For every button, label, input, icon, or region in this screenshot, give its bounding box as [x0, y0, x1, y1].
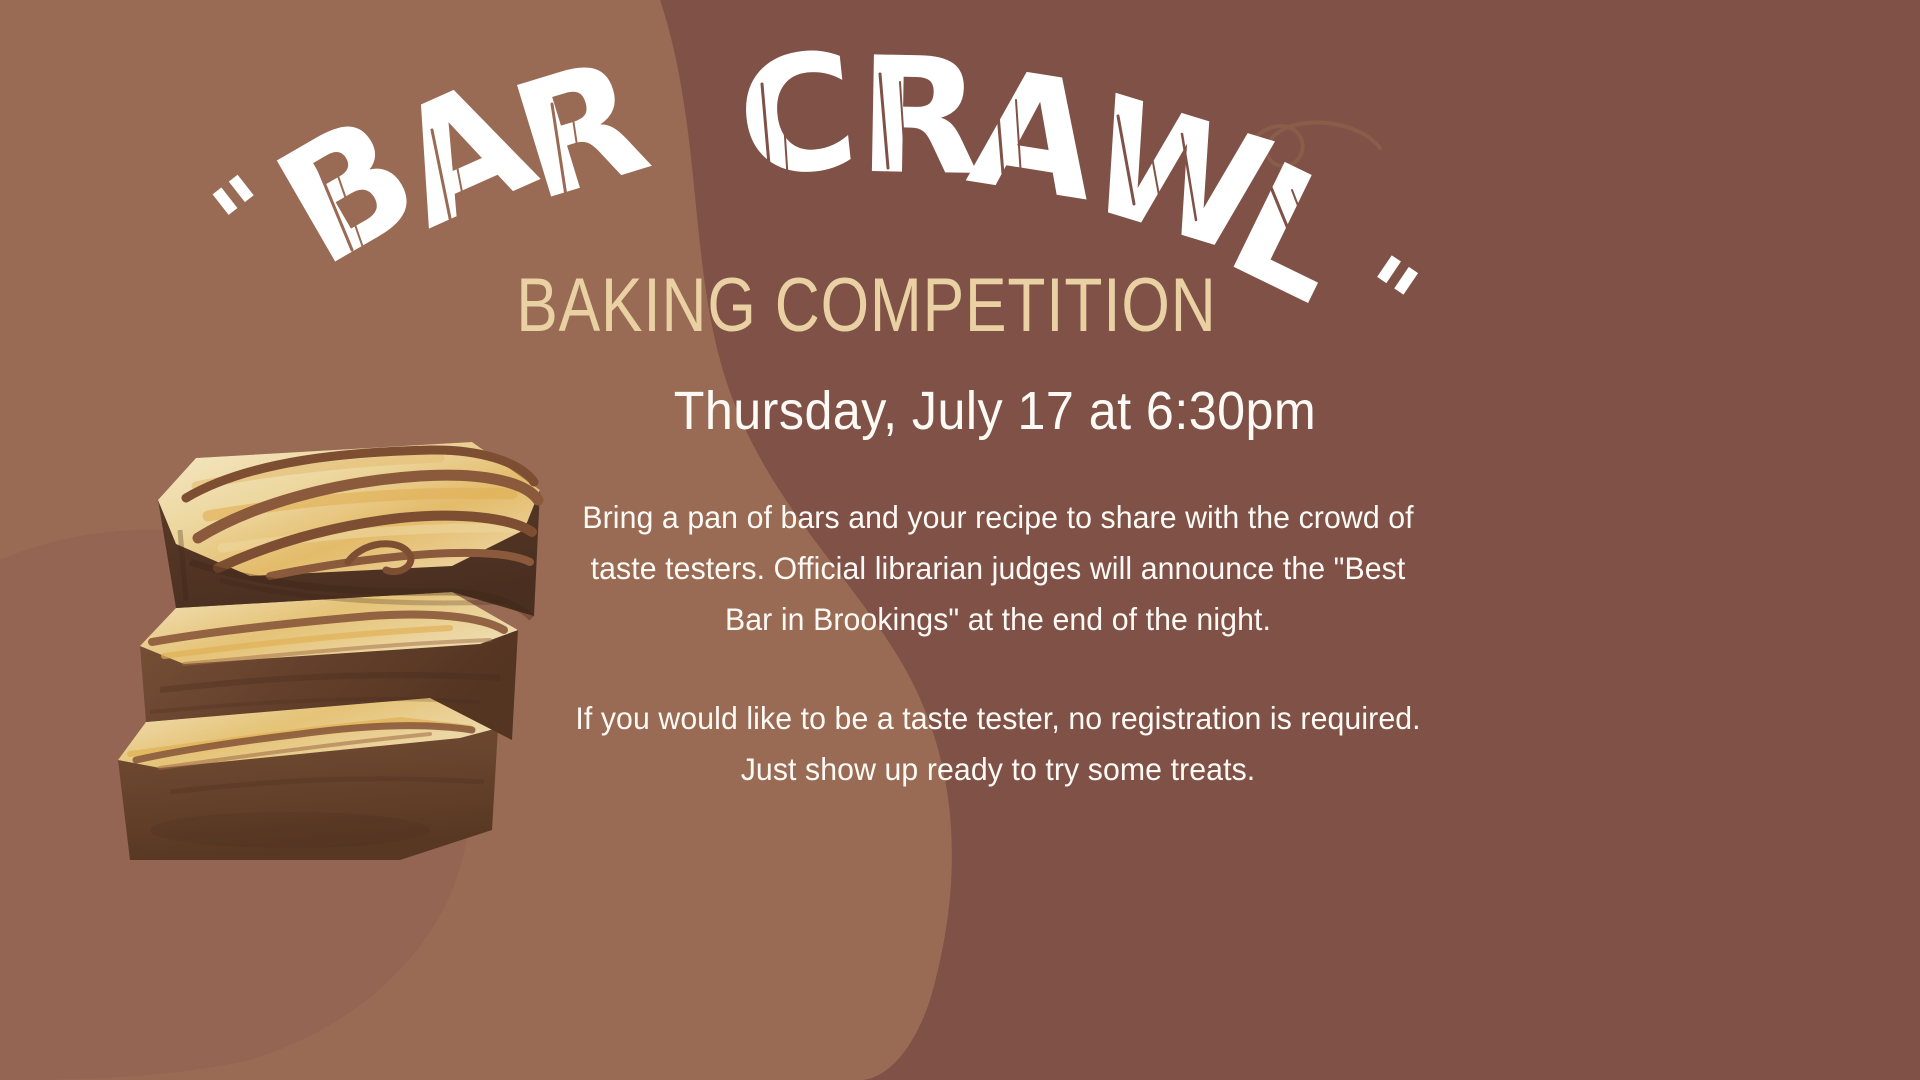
event-flyer: "BARCRAWL" BAKING COMPETITION Thursday, … — [0, 0, 1920, 1080]
body-copy: Bring a pan of bars and your recipe to s… — [548, 492, 1448, 795]
event-date-time: Thursday, July 17 at 6:30pm — [628, 380, 1363, 442]
swirl-flourish-icon — [1232, 96, 1382, 184]
paragraph-spacer — [548, 645, 1448, 693]
stacked-dessert-bars-illustration — [100, 330, 550, 860]
dessert-bar-bottom — [118, 696, 498, 860]
body-paragraph-2: If you would like to be a taste tester, … — [566, 693, 1430, 795]
subtitle-baking-competition: BAKING COMPETITION — [516, 268, 1074, 344]
body-paragraph-1: Bring a pan of bars and your recipe to s… — [566, 492, 1430, 645]
dessert-bar-top — [158, 442, 540, 618]
